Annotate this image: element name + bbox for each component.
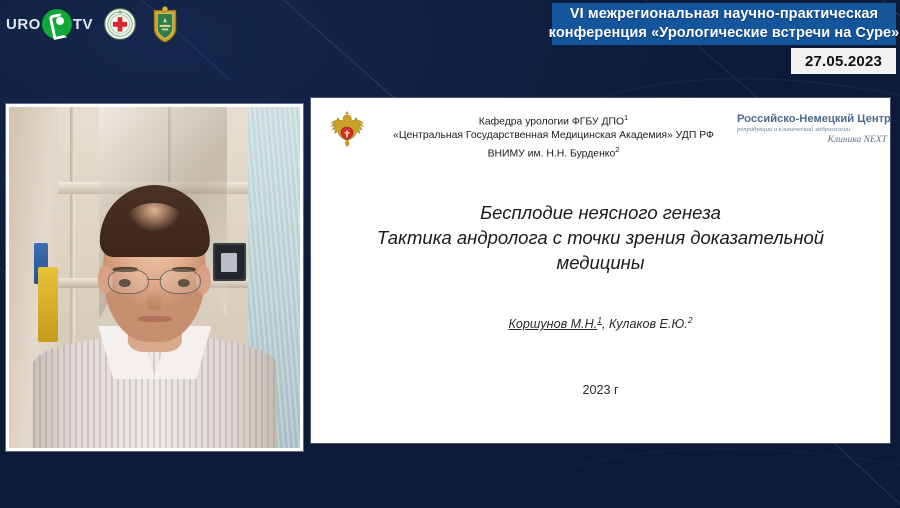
speaker-figure	[32, 182, 276, 448]
slide-header: Кафедра урологии ФГБУ ДПО1 «Центральная …	[311, 98, 890, 162]
slide-title-line-2: Тактика андролога с точки зрения доказат…	[367, 225, 834, 250]
speaker-video-panel[interactable]	[6, 104, 303, 451]
slide-author-2: Кулаков Е.Ю.	[609, 317, 688, 331]
rnc-subtitle: репродукции и клинической эмбриологии	[737, 125, 890, 134]
eyeglasses-icon	[108, 269, 201, 293]
conference-date-text: 27.05.2023	[805, 53, 882, 70]
slide-org-line-1: Кафедра урологии ФГБУ ДПО1	[373, 111, 734, 129]
conference-banner-line-1: VI межрегиональная научно-практическая	[570, 5, 878, 24]
slide-org-line-3-sup: 2	[615, 145, 619, 154]
brand-emblem-strip: URO TV	[0, 0, 206, 48]
russian-coat-of-arms-icon	[321, 105, 373, 157]
rnc-clinic-name: Клиника NEXT	[737, 134, 890, 146]
urotv-green-circle-logo-icon	[42, 9, 72, 39]
slide-authors: Коршунов М.Н.1, Кулаков Е.Ю.2	[311, 315, 890, 331]
red-cross-emblem-icon	[102, 5, 138, 43]
slide-org-line-1-sup: 1	[624, 113, 628, 122]
penza-region-coat-of-arms-icon	[147, 5, 183, 43]
slide-authors-separator: ,	[602, 317, 609, 331]
presentation-slide-panel[interactable]: Кафедра урологии ФГБУ ДПО1 «Центральная …	[311, 98, 890, 443]
slide-org-line-1-text: Кафедра урологии ФГБУ ДПО	[479, 116, 624, 127]
russian-german-center-logo: Российско-Немецкий Центр репродукции и к…	[734, 107, 884, 151]
slide-title-line-3: медицины	[367, 250, 834, 275]
urotv-logo-text-left: URO	[6, 16, 41, 33]
conference-title-banner: VI межрегиональная научно-практическая к…	[552, 3, 896, 45]
slide-author-1: Коршунов М.Н.	[508, 317, 597, 331]
urotv-logo: URO TV	[6, 9, 93, 39]
rnc-name: Российско-Немецкий Центр	[737, 113, 890, 125]
slide-organization-text: Кафедра урологии ФГБУ ДПО1 «Центральная …	[373, 105, 734, 162]
slide-title: Бесплодие неясного генеза Тактика андрол…	[311, 200, 890, 275]
conference-banner-line-2: конференция «Урологические встречи на Су…	[549, 24, 900, 43]
slide-org-line-3: ВНИМУ им. Н.Н. Бурденко2	[373, 143, 734, 161]
slide-author-2-sup: 2	[688, 315, 693, 325]
urotv-logo-text-right: TV	[73, 16, 93, 33]
slide-org-line-3-text: ВНИМУ им. Н.Н. Бурденко	[488, 149, 616, 160]
slide-org-line-2: «Центральная Государственная Медицинская…	[373, 129, 734, 143]
conference-date-badge: 27.05.2023	[791, 48, 896, 74]
slide-year: 2023 г	[311, 383, 890, 397]
speaker-video-feed[interactable]	[9, 107, 300, 448]
slide-title-line-1: Бесплодие неясного генеза	[367, 200, 834, 225]
